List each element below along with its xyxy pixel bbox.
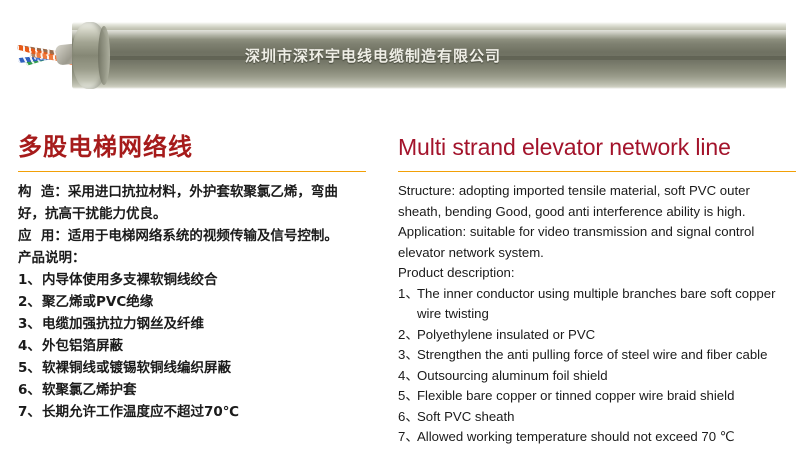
chinese-feature-list: 1、 内导体使用多支裸软铜线绞合 2、 聚乙烯或PVC绝缘 3、 电缆加强抗拉力… — [18, 269, 370, 423]
list-item: 3、 Strengthen the anti pulling force of … — [398, 345, 802, 366]
list-item-number: 2、 — [398, 325, 417, 346]
list-item-text: 长期允许工作温度应不超过70℃ — [42, 401, 370, 423]
list-item-text: Allowed working temperature should not e… — [417, 427, 802, 448]
product-hero-image: 深圳市深环宇电线电缆制造有限公司 — [0, 0, 812, 112]
list-item-text: 软聚氯乙烯护套 — [42, 379, 370, 401]
list-item: 2、 聚乙烯或PVC绝缘 — [18, 291, 370, 313]
list-item-number: 1、 — [18, 269, 42, 291]
chinese-title-divider — [18, 171, 366, 172]
list-item: 6、 软聚氯乙烯护套 — [18, 379, 370, 401]
english-title-divider — [398, 171, 796, 172]
list-item: 2、 Polyethylene insulated or PVC — [398, 325, 802, 346]
list-item: 3、 电缆加强抗拉力钢丝及纤维 — [18, 313, 370, 335]
english-structure-line-1: Structure: adopting imported tensile mat… — [398, 181, 802, 202]
list-item-number: 3、 — [398, 345, 417, 366]
english-structure-line-2: sheath, bending Good, good anti interfer… — [398, 202, 802, 223]
english-description-heading: Product description: — [398, 263, 802, 284]
english-product-title: Multi strand elevator network line — [398, 132, 802, 162]
list-item: 5、 Flexible bare copper or tinned copper… — [398, 386, 802, 407]
list-item-text: 聚乙烯或PVC绝缘 — [42, 291, 370, 313]
list-item-text: The inner conductor using multiple branc… — [417, 284, 802, 325]
list-item-number: 2、 — [18, 291, 42, 313]
cable-end-ring — [98, 26, 110, 85]
list-item: 6、 Soft PVC sheath — [398, 407, 802, 428]
list-item-text: 外包铝箔屏蔽 — [42, 335, 370, 357]
list-item-text: Outsourcing aluminum foil shield — [417, 366, 802, 387]
list-item-number: 1、 — [398, 284, 417, 325]
list-item-number: 4、 — [398, 366, 417, 387]
list-item: 4、 Outsourcing aluminum foil shield — [398, 366, 802, 387]
list-item: 1、 The inner conductor using multiple br… — [398, 284, 802, 325]
chinese-body: 构 造：采用进口抗拉材料，外护套软聚氯乙烯，弯曲 好，抗高干扰能力优良。 应 用… — [18, 181, 370, 269]
list-item-text: Polyethylene insulated or PVC — [417, 325, 802, 346]
list-item: 1、 内导体使用多支裸软铜线绞合 — [18, 269, 370, 291]
english-body: Structure: adopting imported tensile mat… — [398, 181, 802, 284]
list-item-text: Flexible bare copper or tinned copper wi… — [417, 386, 802, 407]
list-item-number: 5、 — [18, 357, 42, 379]
list-item: 7、 Allowed working temperature should no… — [398, 427, 802, 448]
list-item-number: 6、 — [398, 407, 417, 428]
list-item-number: 7、 — [398, 427, 417, 448]
list-item-text: Strengthen the anti pulling force of ste… — [417, 345, 802, 366]
english-application-line-2: elevator network system. — [398, 243, 802, 264]
list-item-number: 5、 — [398, 386, 417, 407]
chinese-application-text: 应 用：适用于电梯网络系统的视频传输及信号控制。 — [18, 225, 370, 247]
chinese-description-heading: 产品说明： — [18, 247, 370, 269]
chinese-structure-text: 构 造：采用进口抗拉材料，外护套软聚氯乙烯，弯曲 好，抗高干扰能力优良。 — [18, 181, 370, 225]
list-item: 5、 软裸铜线或镀锡软铜线编织屏蔽 — [18, 357, 370, 379]
english-content-column: Multi strand elevator network line Struc… — [398, 132, 802, 448]
chinese-product-title: 多股电梯网络线 — [18, 132, 370, 162]
manufacturer-watermark: 深圳市深环宇电线电缆制造有限公司 — [245, 45, 501, 66]
list-item: 4、 外包铝箔屏蔽 — [18, 335, 370, 357]
list-item-text: Soft PVC sheath — [417, 407, 802, 428]
list-item-text: 软裸铜线或镀锡软铜线编织屏蔽 — [42, 357, 370, 379]
list-item-number: 7、 — [18, 401, 42, 423]
chinese-content-column: 多股电梯网络线 构 造：采用进口抗拉材料，外护套软聚氯乙烯，弯曲 好，抗高干扰能… — [18, 132, 370, 423]
list-item-number: 3、 — [18, 313, 42, 335]
list-item-number: 4、 — [18, 335, 42, 357]
list-item-number: 6、 — [18, 379, 42, 401]
english-application-line-1: Application: suitable for video transmis… — [398, 222, 802, 243]
list-item-text: 内导体使用多支裸软铜线绞合 — [42, 269, 370, 291]
english-feature-list: 1、 The inner conductor using multiple br… — [398, 284, 802, 448]
list-item-text: 电缆加强抗拉力钢丝及纤维 — [42, 313, 370, 335]
list-item: 7、 长期允许工作温度应不超过70℃ — [18, 401, 370, 423]
